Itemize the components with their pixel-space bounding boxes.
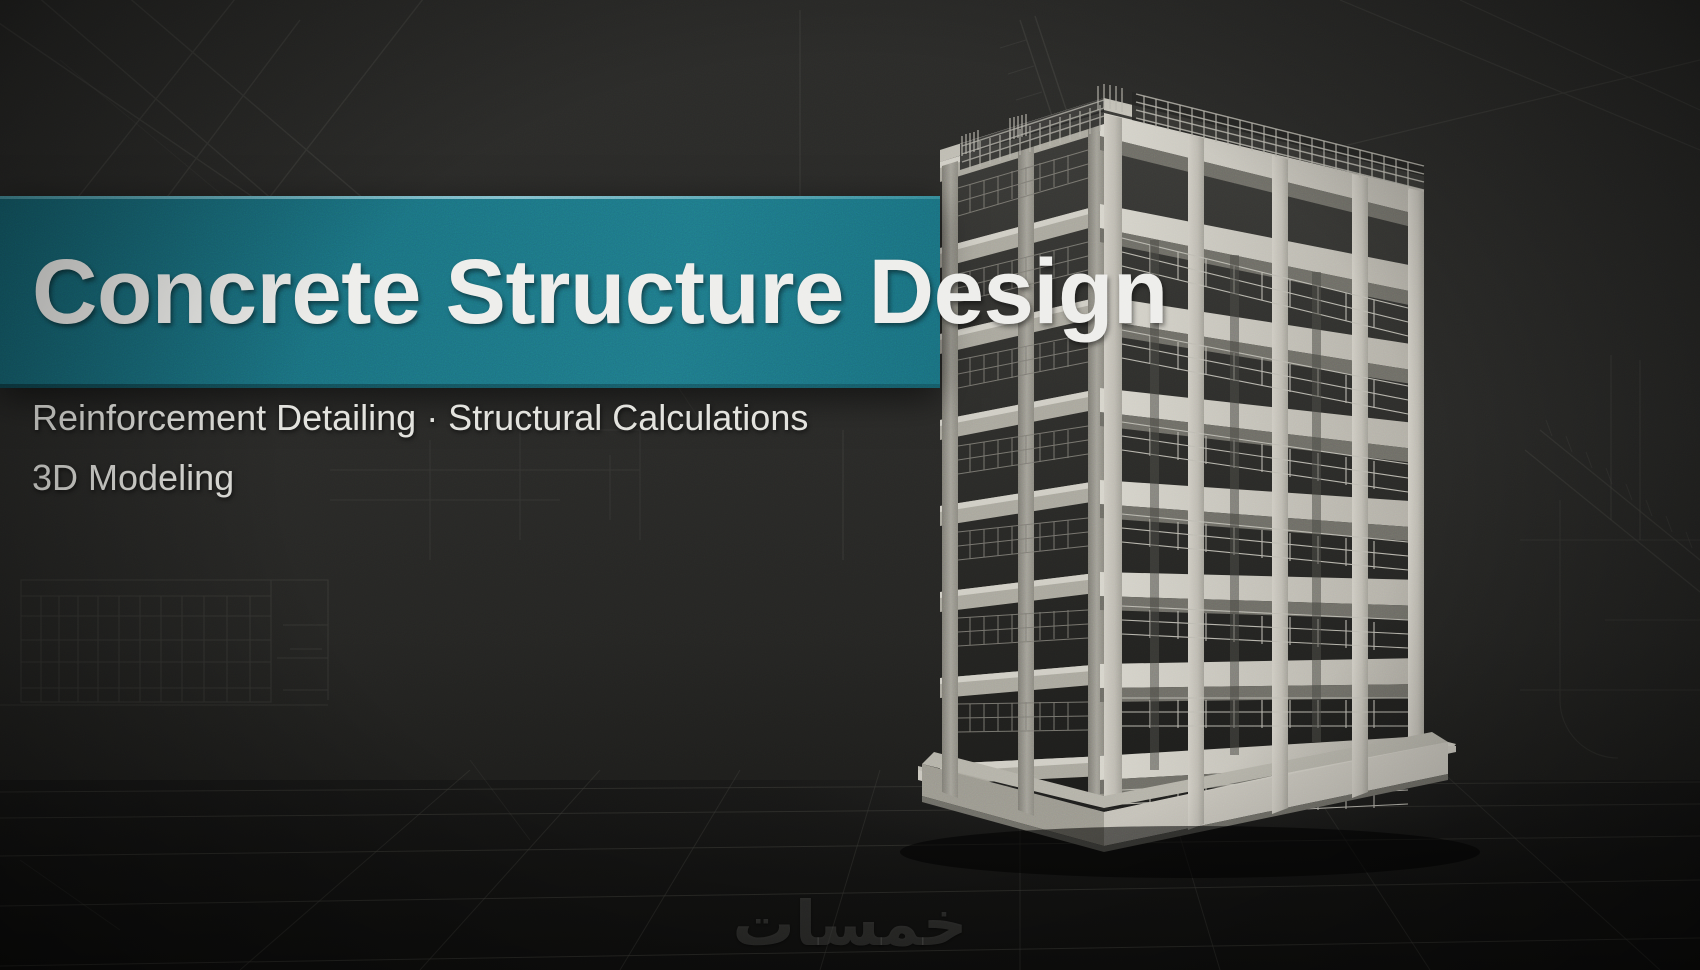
building-left-face [940, 110, 1104, 804]
khamsat-watermark: خمسات [733, 887, 968, 960]
building-right-face [1100, 110, 1424, 818]
subtitle-block: Reinforcement Detailing · Structural Cal… [32, 388, 912, 508]
concrete-building-illustration [900, 40, 1480, 870]
page-title: Concrete Structure Design [32, 246, 1168, 338]
subtitle-line-1: Reinforcement Detailing · Structural Cal… [32, 388, 912, 448]
poster-canvas: Concrete Structure Design Reinforcement … [0, 0, 1700, 970]
title-banner: Concrete Structure Design [0, 196, 940, 388]
subtitle-line-2: 3D Modeling [32, 448, 912, 508]
